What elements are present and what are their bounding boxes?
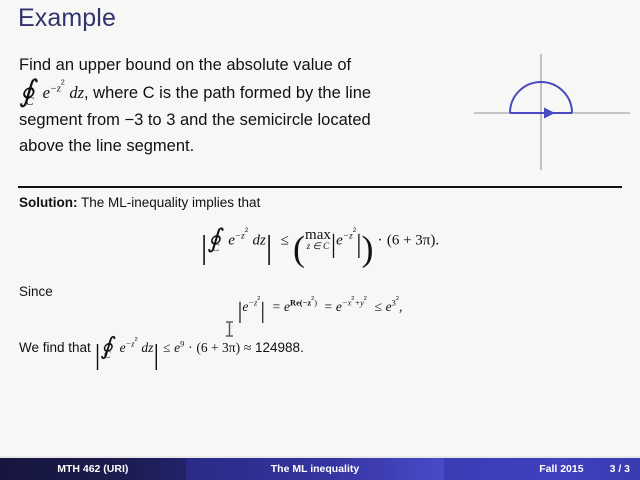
abs-bar-close: | [266,229,272,265]
eq2-punct: , [399,299,402,314]
eq1-lhs-exp-power: 2 [245,227,249,234]
since-label: Since [19,284,53,299]
problem-line-2: ∮Ce−z2 dz, where C is the path formed by… [19,80,459,107]
differential-dz: dz [69,83,84,102]
equation-ml-inequality: |∮Ce−z2 dz| ≤ (maxz ∈ C|e−z2|) · (6 + 3π… [0,228,640,252]
slide-canvas: Example Find an upper bound on the absol… [0,0,640,480]
footer-page-number: 3 / 3 [610,463,630,475]
eq3-dot: · [188,340,193,355]
integrand-base: e [43,83,50,102]
eq3-contour-subscript: C [104,350,111,361]
problem-line-4: above the line segment. [19,133,459,159]
eq1-max-operator: maxz ∈ C [305,228,331,252]
eq1-max-label: max [305,228,331,243]
footer-course: MTH 462 (URI) [0,458,186,480]
ibeam-cursor-svg [224,320,235,338]
solution-intro-rest: The ML-inequality implies that [77,195,260,210]
problem-statement: Find an upper bound on the absolute valu… [19,52,459,159]
eq2-t3-exp-b: +y [354,299,363,308]
eq2-t3-exp-b-power: 2 [364,296,367,302]
direction-arrow-icon [544,108,555,119]
problem-line-3: segment from −3 to 3 and the semicircle … [19,107,459,133]
eq1-max-subscript: z ∈ C [305,243,331,252]
conclusion-line: We find that |∮Ce−z2 dz| ≤ e9 · (6 + 3π)… [19,340,304,356]
eq3-abs-close: | [153,339,159,371]
paren-open: ( [293,229,305,269]
conclusion-prefix: We find that [19,340,91,355]
eq2-equals-2: = [325,299,333,314]
page-title: Example [18,4,116,33]
equation-modulus-bound: |e−z2| = eRe(−z2) = e−x2+y2 ≤ e32, [0,299,640,315]
eq3-lhs-exp-power: 2 [134,337,137,343]
eq1-lhs-dz: dz [252,233,265,249]
contour-integral-subscript: C [26,94,34,108]
eq1-max-fn: e [336,233,343,249]
problem-line-2-rest: , where C is the path formed by the line [84,84,371,102]
eq1-lhs-exp: −z [235,232,245,242]
eq2-t2-exp-re: Re(−z [290,299,311,308]
footer-bar: MTH 462 (URI) The ML inequality Fall 201… [0,458,640,480]
eq3-approx: ≈ [244,340,251,355]
ibeam-cursor-icon [224,320,235,338]
eq1-relation: ≤ [281,233,289,249]
paren-close: ) [362,229,374,269]
eq1-max-exp: −z [343,232,353,242]
eq3-value: 124988 [255,340,300,355]
eq3-punct: . [300,340,304,355]
eq1-dot: · [378,233,383,249]
eq3-rhs-exp: 9 [180,340,184,349]
contour-diagram [472,52,632,172]
eq3-lhs-dz: dz [141,340,153,355]
integrand-exponent-power: 2 [61,80,65,87]
solution-label: Solution: [19,195,77,210]
footer-topic: The ML inequality [186,458,445,480]
eq2-equals-1: = [273,299,281,314]
eq3-relation: ≤ [163,340,170,355]
footer-right-group: Fall 2015 3 / 3 [444,458,640,480]
eq2-abs-close: | [260,298,265,324]
integrand-exponent: −z [50,84,61,95]
eq1-punct: . [435,233,439,249]
eq1-lhs-fn: e [228,233,235,249]
solution-intro: Solution: The ML-inequality implies that [19,195,260,210]
problem-line-1: Find an upper bound on the absolute valu… [19,52,459,78]
eq1-factor: (6 + 3π) [387,233,436,249]
eq1-contour-subscript: C [212,242,219,254]
eq2-t3-exp-a: −x [342,299,351,308]
contour-diagram-svg [472,52,632,172]
footer-term: Fall 2015 [539,463,583,475]
eq3-factor: (6 + 3π) [196,340,240,355]
eq2-relation: ≤ [374,299,381,314]
section-divider [18,186,622,188]
eq2-t2-exp-close: ) [314,299,317,308]
eq2-t1-exp: −z [248,299,257,308]
